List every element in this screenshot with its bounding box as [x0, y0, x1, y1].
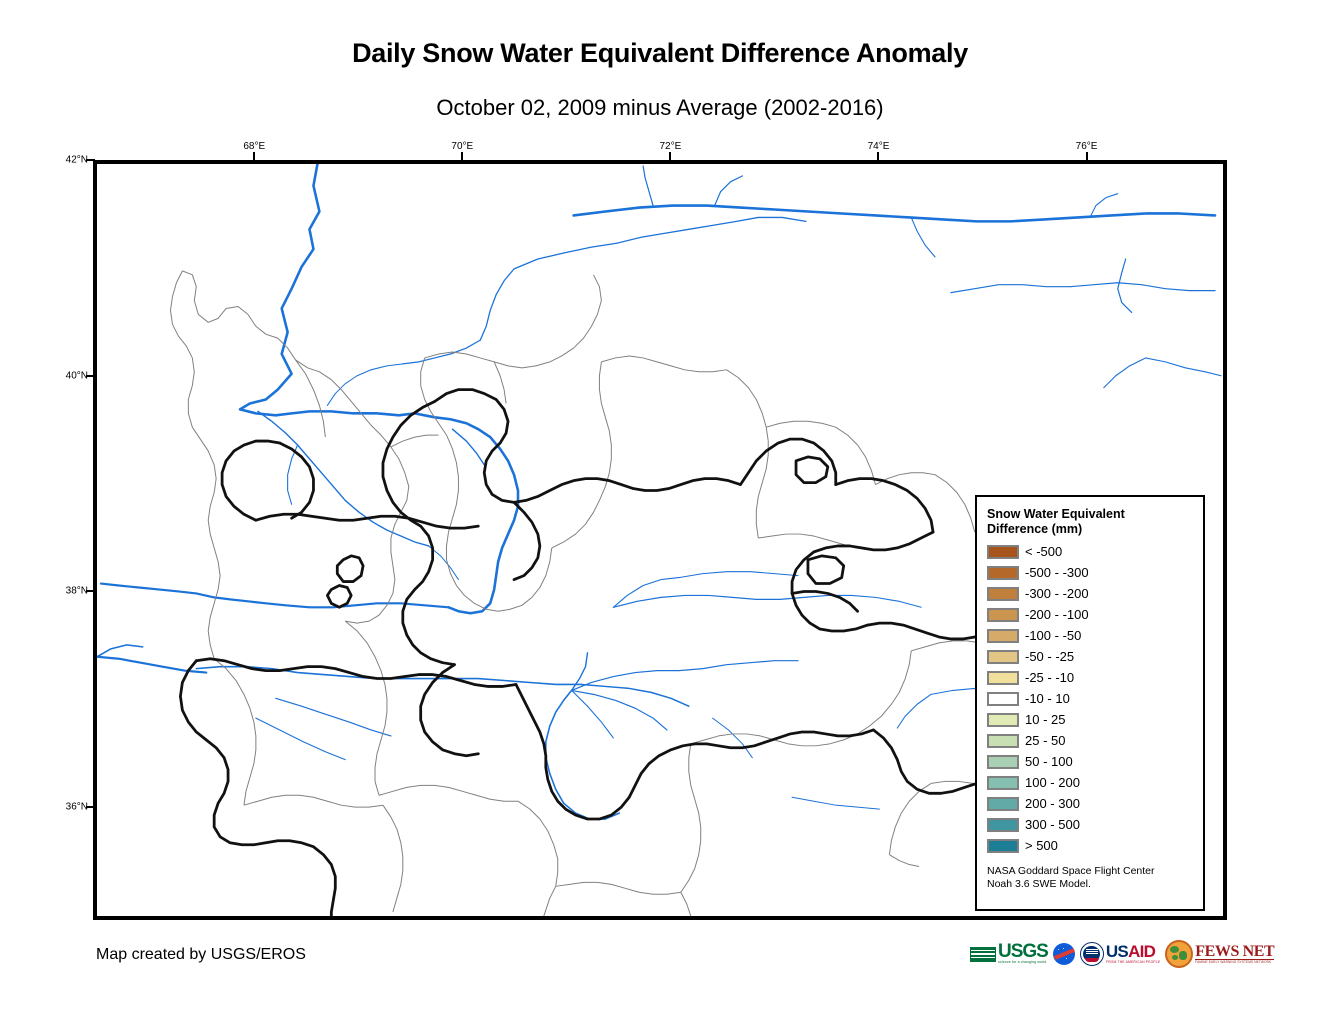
- latitude-tick-label: 38°N: [56, 586, 88, 597]
- legend-label: -500 - -300: [1025, 566, 1089, 580]
- legend-row: -50 - -25: [987, 646, 1203, 667]
- legend-swatch: [987, 566, 1019, 580]
- usaid-logo: USAID FROM THE AMERICAN PEOPLE: [1080, 937, 1160, 971]
- legend-row: 100 - 200: [987, 772, 1203, 793]
- legend-row: < -500: [987, 541, 1203, 562]
- longitude-tick-label: 70°E: [451, 141, 473, 152]
- legend-row: 25 - 50: [987, 730, 1203, 751]
- legend-title-line1: Snow Water Equivalent: [987, 507, 1187, 522]
- latitude-tick-mark: [86, 590, 95, 592]
- longitude-tick-mark: [877, 152, 879, 161]
- fews-globe-icon: [1165, 940, 1193, 968]
- longitude-tick-mark: [253, 152, 255, 161]
- legend-source-line1: NASA Goddard Space Flight Center: [987, 865, 1197, 878]
- legend-label: -10 - 10: [1025, 692, 1070, 706]
- legend-row: -300 - -200: [987, 583, 1203, 604]
- legend-title-line2: Difference (mm): [987, 522, 1187, 537]
- longitude-tick-mark: [461, 152, 463, 161]
- longitude-tick-label: 72°E: [659, 141, 681, 152]
- legend-swatch: [987, 629, 1019, 643]
- legend-label: -25 - -10: [1025, 671, 1074, 685]
- map-credit: Map created by USGS/EROS: [96, 946, 306, 964]
- legend-label: 25 - 50: [1025, 734, 1065, 748]
- legend-label: > 500: [1025, 839, 1058, 853]
- page-title: Daily Snow Water Equivalent Difference A…: [0, 38, 1320, 69]
- legend-label: -50 - -25: [1025, 650, 1074, 664]
- legend-swatch: [987, 755, 1019, 769]
- legend-row: -100 - -50: [987, 625, 1203, 646]
- legend-swatch: [987, 608, 1019, 622]
- legend-row: -500 - -300: [987, 562, 1203, 583]
- legend-label: -100 - -50: [1025, 629, 1081, 643]
- page-subtitle: October 02, 2009 minus Average (2002-201…: [0, 95, 1320, 121]
- usaid-wordmark-aid: AID: [1128, 942, 1155, 961]
- nasa-meatball-icon: [1053, 943, 1075, 965]
- legend-label: -200 - -100: [1025, 608, 1089, 622]
- usgs-logo: USGS science for a changing world: [970, 937, 1048, 971]
- latitude-tick-label: 42°N: [56, 155, 88, 166]
- longitude-tick-mark: [1086, 152, 1088, 161]
- legend-label: 300 - 500: [1025, 818, 1080, 832]
- legend-row: 300 - 500: [987, 814, 1203, 835]
- legend-row: -10 - 10: [987, 688, 1203, 709]
- latitude-tick-mark: [86, 375, 95, 377]
- legend-class-list: < -500-500 - -300-300 - -200-200 - -100-…: [987, 541, 1203, 856]
- legend-swatch: [987, 776, 1019, 790]
- legend-source-note: NASA Goddard Space Flight Center Noah 3.…: [987, 865, 1197, 891]
- legend-label: < -500: [1025, 545, 1062, 559]
- legend-swatch: [987, 650, 1019, 664]
- usgs-tagline: science for a changing world: [998, 960, 1048, 965]
- legend-title: Snow Water Equivalent Difference (mm): [987, 507, 1187, 537]
- latitude-tick-mark: [86, 159, 95, 161]
- legend-swatch: [987, 797, 1019, 811]
- legend-swatch: [987, 692, 1019, 706]
- longitude-tick-label: 68°E: [243, 141, 265, 152]
- longitude-tick-mark: [669, 152, 671, 161]
- longitude-tick-label: 74°E: [868, 141, 890, 152]
- legend-swatch: [987, 671, 1019, 685]
- legend-swatch: [987, 713, 1019, 727]
- fews-net-logo: FEWS NET FAMINE EARLY WARNING SYSTEMS NE…: [1165, 937, 1274, 971]
- latitude-tick-mark: [86, 806, 95, 808]
- legend-row: 200 - 300: [987, 793, 1203, 814]
- legend-row: -200 - -100: [987, 604, 1203, 625]
- usgs-wave-icon: [970, 947, 996, 962]
- usaid-seal-icon: [1080, 942, 1104, 966]
- legend-label: 50 - 100: [1025, 755, 1073, 769]
- usaid-tagline: FROM THE AMERICAN PEOPLE: [1106, 960, 1160, 965]
- usgs-wordmark: USGS: [998, 943, 1048, 960]
- usaid-wordmark: USAID: [1106, 944, 1160, 960]
- legend-label: 200 - 300: [1025, 797, 1080, 811]
- legend-row: > 500: [987, 835, 1203, 856]
- legend-row: 10 - 25: [987, 709, 1203, 730]
- legend-swatch: [987, 839, 1019, 853]
- legend-swatch: [987, 818, 1019, 832]
- map-legend: Snow Water Equivalent Difference (mm) < …: [975, 495, 1205, 911]
- legend-label: 100 - 200: [1025, 776, 1080, 790]
- legend-row: -25 - -10: [987, 667, 1203, 688]
- legend-source-line2: Noah 3.6 SWE Model.: [987, 878, 1197, 891]
- latitude-tick-label: 36°N: [56, 801, 88, 812]
- legend-swatch: [987, 734, 1019, 748]
- longitude-tick-label: 76°E: [1076, 141, 1098, 152]
- fews-net-tagline: FAMINE EARLY WARNING SYSTEMS NETWORK: [1195, 960, 1274, 964]
- legend-row: 50 - 100: [987, 751, 1203, 772]
- legend-label: 10 - 25: [1025, 713, 1065, 727]
- legend-swatch: [987, 545, 1019, 559]
- legend-swatch: [987, 587, 1019, 601]
- agency-logo-row: USGS science for a changing world: [970, 936, 1274, 972]
- fews-net-wordmark: FEWS NET: [1195, 944, 1274, 959]
- latitude-tick-label: 40°N: [56, 370, 88, 381]
- legend-label: -300 - -200: [1025, 587, 1089, 601]
- nasa-logo: [1053, 937, 1075, 971]
